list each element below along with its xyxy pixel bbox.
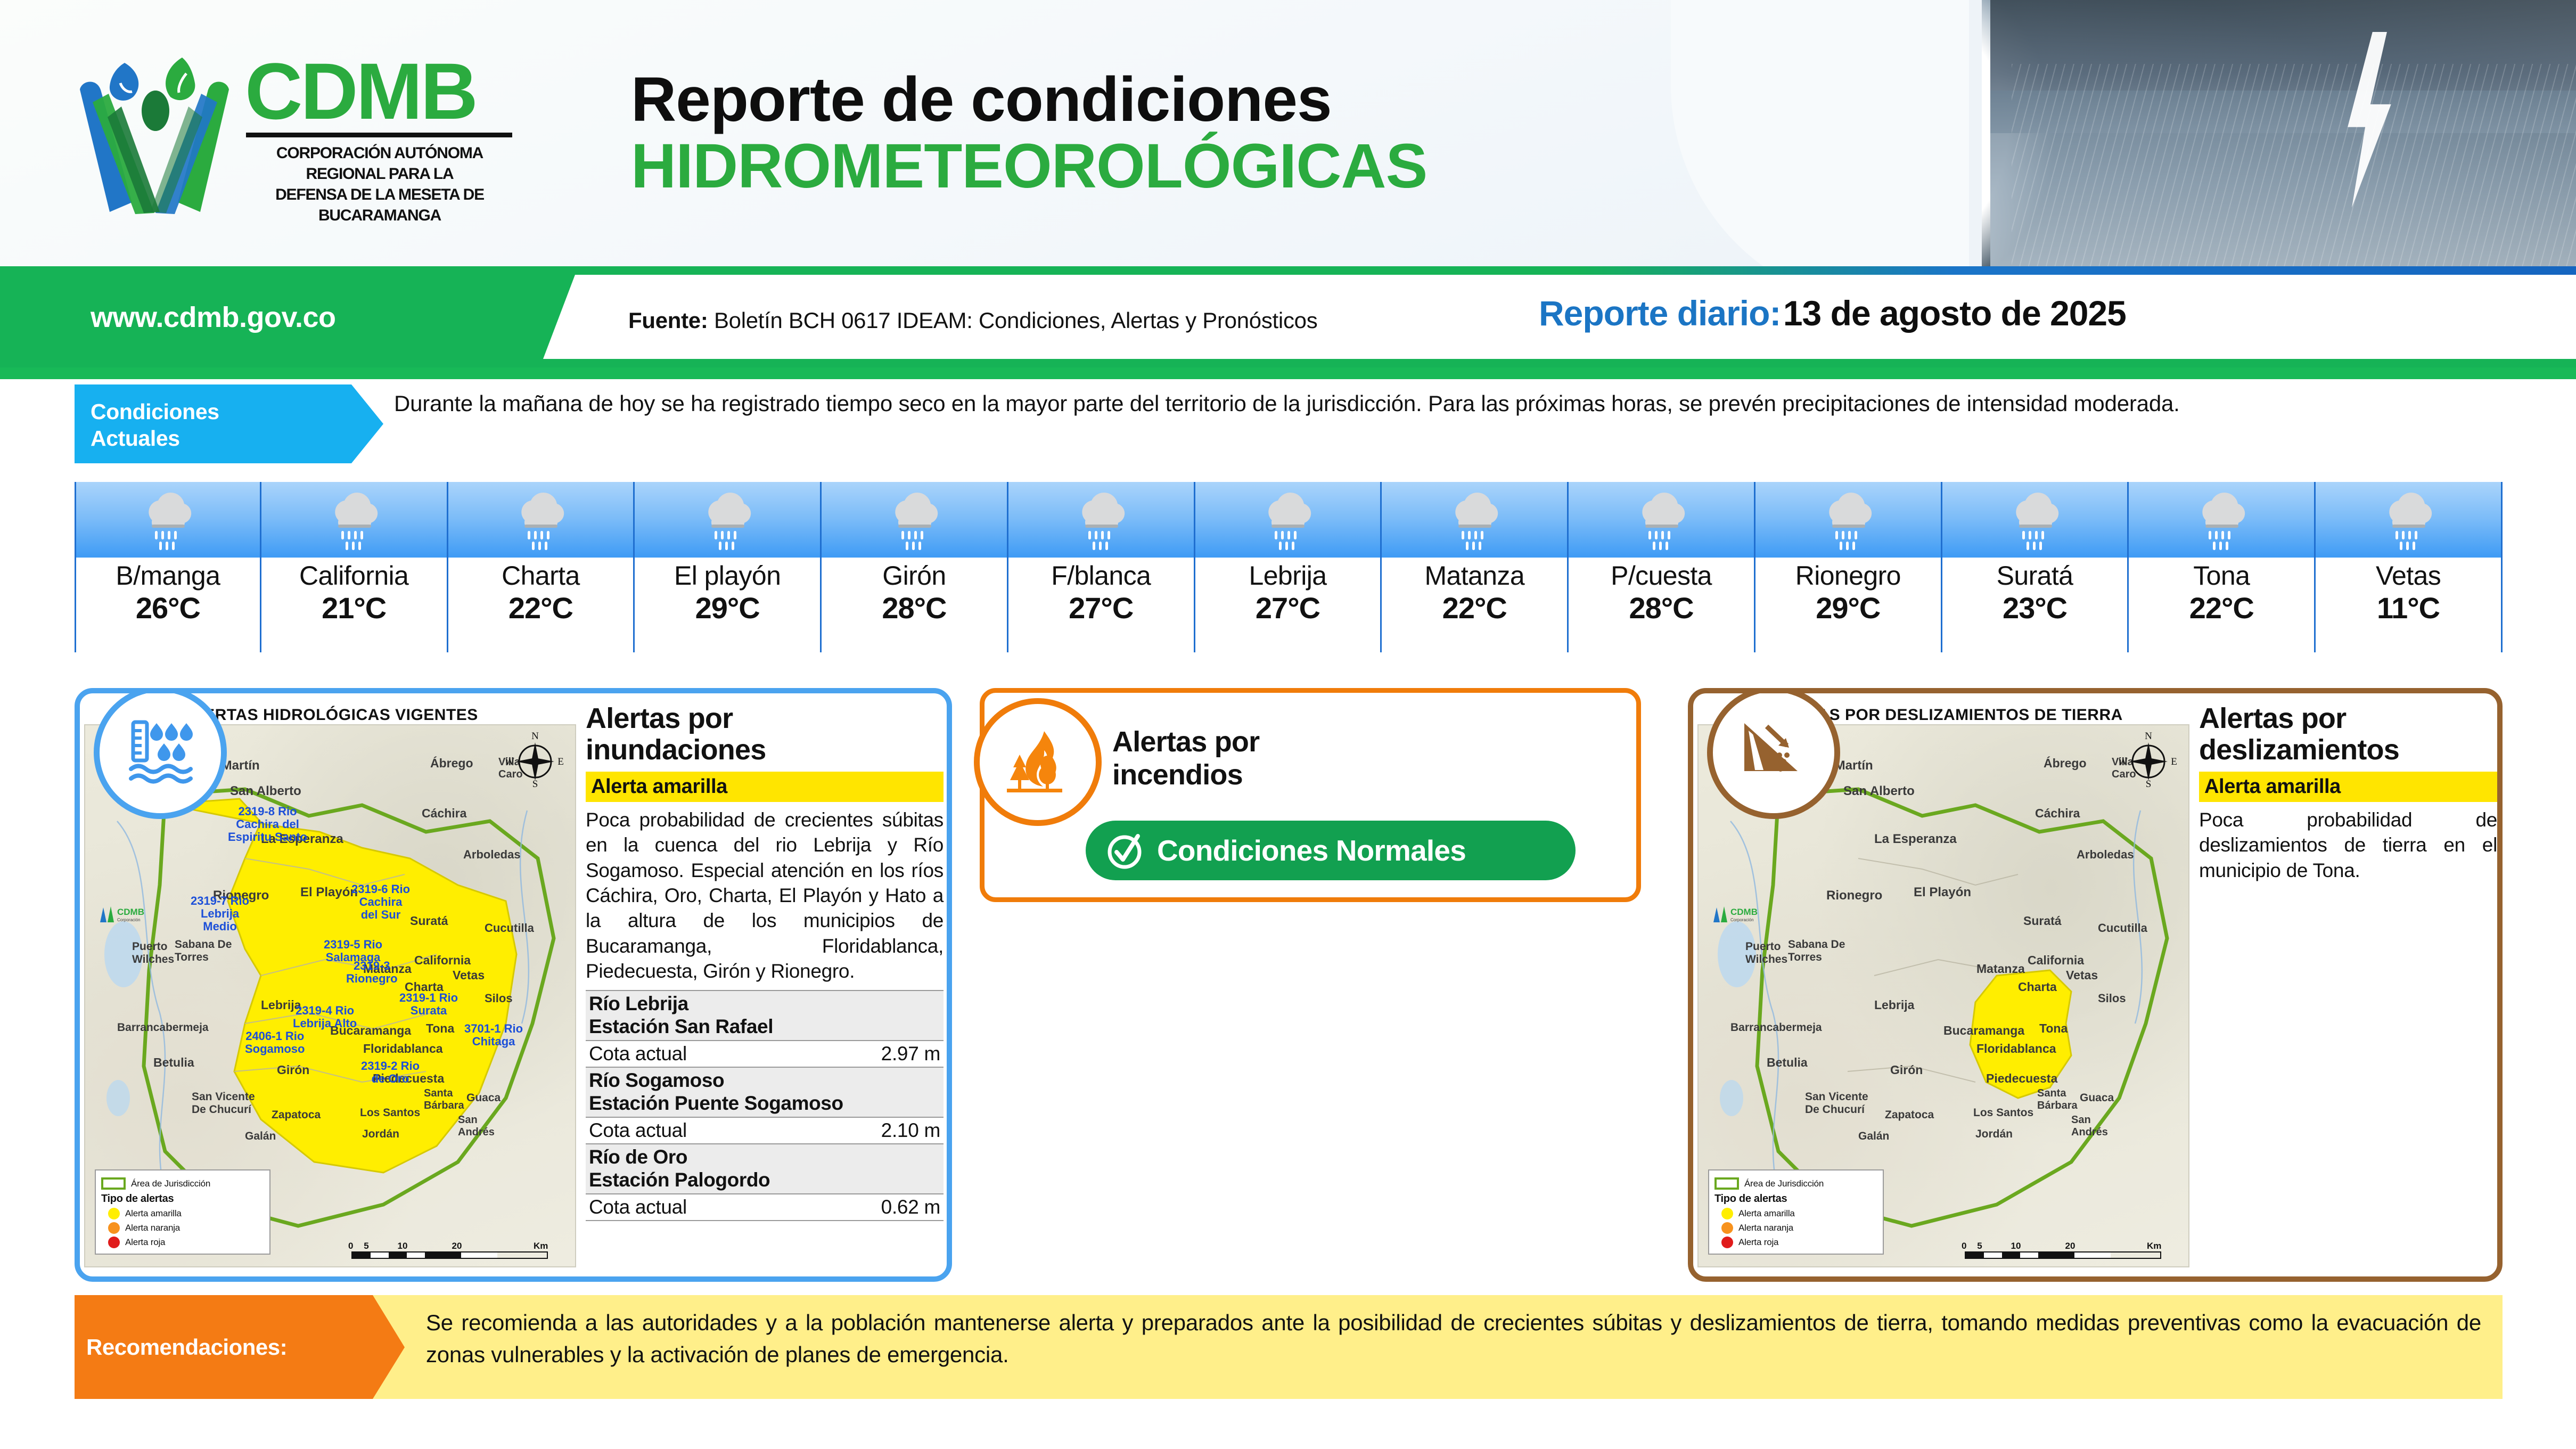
legend-item-label: Alerta naranja [125,1223,180,1233]
temperature-body: Girón28°C [822,558,1008,652]
temperature-body: El playón29°C [635,558,822,652]
legend-item-label: Alerta naranja [1738,1223,1793,1233]
scale-tick: 20 [421,1241,493,1251]
municipality-temperature: 28°C [882,591,946,626]
map-place-label: Cucutilla [485,921,534,935]
map-place-label: Jordán [362,1128,399,1141]
svg-text:Corporación: Corporación [1730,918,1754,922]
temperature-body: California21°C [261,558,448,652]
weather-icon-slot [448,482,635,558]
legend-types-header: Tipo de alertas [101,1193,264,1205]
landslide-alert-panel[interactable]: ALERTAS POR DESLIZAMIENTOS DE TIERRA [1688,688,2503,1282]
river-name: Río Lebrija [589,993,940,1016]
map-place-label: Suratá [410,914,448,928]
report-date-group: Reporte diario: 13 de agosto de 2025 [1539,293,2126,333]
map-place-label: Ábrego [430,756,473,771]
landslide-heading-1: Alertas por [2199,703,2497,734]
municipality-name: Vetas [2376,561,2441,591]
svg-text:E: E [557,756,564,767]
temperature-cell: Matanza22°C [1382,482,1569,652]
fire-alert-panel[interactable]: Alertas por incendios Condiciones Normal… [980,688,1641,902]
map-place-label: Floridablanca [363,1042,443,1056]
weather-icon-slot [1755,482,1942,558]
municipality-name: Matanza [1424,561,1524,591]
recommendations-text: Se recomienda a las autoridades y a la p… [426,1307,2481,1370]
flood-heading-2: inundaciones [586,734,944,766]
title-line-2: HIDROMETEOROLÓGICAS [631,133,1427,200]
fire-heading-1: Alertas por [1112,726,1259,759]
municipality-name: Charta [502,561,579,591]
scale-tick: 5 [348,1241,384,1251]
map-place-label: Silos [485,992,513,1005]
temperature-cell: Lebrija27°C [1195,482,1382,652]
rain-cloud-icon [508,490,572,553]
logo-subtitle-2: DEFENSA DE LA MESETA DE BUCARAMANGA [245,184,514,226]
legend-item-label: Alerta roja [125,1237,165,1248]
map-place-label: Betulia [1767,1055,1808,1070]
weather-icon-slot [75,482,261,558]
landslide-icon [1734,713,1814,792]
weather-icon-slot [1008,482,1195,558]
temperature-body: Rionegro29°C [1755,558,1942,652]
svg-text:W: W [2119,756,2128,767]
map-place-label: Girón [277,1063,309,1077]
river-name: Río Sogamoso [589,1069,940,1092]
landslide-heading-2: deslizamientos [2199,734,2497,766]
municipality-temperature: 23°C [2003,591,2067,626]
municipality-name: Girón [882,561,946,591]
map-place-label: Santa Bárbara [2037,1087,2078,1112]
municipality-temperature: 28°C [1629,591,1693,626]
recommendations-tag: Recomendaciones: [75,1295,405,1399]
map-place-label: California [2028,953,2084,968]
weather-icon-slot [635,482,822,558]
flood-heading-1: Alertas por [586,703,944,734]
scale-unit: Km [2147,1241,2161,1251]
rain-cloud-icon [322,490,386,553]
tag-line-2: Actuales [91,425,383,452]
legend-color-dot [1721,1237,1733,1248]
rain-cloud-icon [882,490,946,553]
municipality-name: Rionegro [1795,561,1901,591]
temperature-body: Matanza22°C [1382,558,1569,652]
municipality-temperature: 21°C [322,591,386,626]
legend-color-dot [1721,1208,1733,1219]
flood-alert-text: Poca probabilidad de crecientes súbitas … [586,807,944,984]
legend-color-dot [108,1208,120,1219]
map-place-label: Guaca [466,1092,501,1104]
recommendations-section: Recomendaciones: Se recomienda a las aut… [75,1295,2503,1399]
rain-streaks [2012,64,2576,266]
municipality-temperature: 22°C [2189,591,2254,626]
map-place-label: Cucutilla [2098,921,2147,935]
temperature-cell: El playón29°C [635,482,822,652]
weather-icon-slot [2316,482,2503,558]
map-place-label: Tona [426,1021,454,1036]
station-name: Estación Puente Sogamoso [589,1092,940,1115]
map-place-label: San Alberto [1843,784,1915,799]
rain-cloud-icon [1256,490,1319,553]
scale-tick: 20 [2034,1241,2106,1251]
map-place-label: Santa Bárbara [424,1087,464,1112]
temperature-body: P/cuesta28°C [1569,558,1755,652]
map-place-label: Zapatoca [272,1109,321,1121]
legend-items: Alerta amarillaAlerta naranjaAlerta roja [101,1208,264,1248]
temperature-cell: B/manga26°C [75,482,261,652]
legend-item-label: Alerta amarilla [1738,1208,1795,1219]
page-title: Reporte de condiciones HIDROMETEOROLÓGIC… [631,67,1427,200]
map-place-label: Floridablanca [1976,1042,2056,1056]
map-basin-label: 3701-1 Rio Chitaga [464,1022,523,1048]
map-place-label: Vetas [2066,968,2098,983]
map-place-label: Barrancabermeja [117,1021,209,1034]
jurisdiction-label: Área de Jurisdicción [131,1178,210,1189]
map-place-label: Rionegro [1826,888,1882,903]
legend-jurisdiction-row: Área de Jurisdicción [1714,1177,1877,1190]
municipality-name: El playón [674,561,781,591]
jurisdiction-swatch [1714,1177,1739,1190]
landslide-text-column: Alertas por deslizamientos Alerta amaril… [2199,703,2497,1275]
temperature-body: B/manga26°C [75,558,261,652]
map-cdmb-logo: CDMB Corporación [1709,901,1773,928]
legend-item: Alerta roja [1714,1237,1877,1248]
map-place-label: Zapatoca [1885,1109,1934,1121]
river-name: Río de Oro [589,1146,940,1169]
map-place-label: Sabana De Torres [175,938,232,964]
map-place-label: San Andrés [458,1114,495,1139]
weather-icon-slot [1569,482,1755,558]
map-place-label: Ábrego [2044,756,2087,771]
temperature-cell: P/cuesta28°C [1569,482,1755,652]
map-place-label: Vetas [453,968,485,983]
map-scale-bar: 051020Km [351,1241,548,1259]
map-basin-label: 2319-1 Rio Surata [399,992,458,1017]
green-divider [0,367,2576,379]
temperature-strip: B/manga26°CCalifornia21°CCharta22°CEl pl… [75,482,2503,652]
map-place-label: Guaca [2080,1092,2114,1104]
map-place-label: San Vicente De Chucurí [192,1091,255,1116]
map-basin-label: 2319-3 Rionegro [346,960,398,985]
map-place-label: Charta [2018,980,2057,994]
flood-alert-panel[interactable]: ALERTAS HIDROLÓGICAS VIGENTES [75,688,952,1282]
fire-status-badge[interactable]: Condiciones Normales [1086,821,1576,880]
map-place-label: San Vicente De Chucurí [1805,1091,1868,1116]
scale-tick: 10 [384,1241,421,1251]
map-place-label: Suratá [2023,914,2062,928]
temperature-cell: F/blanca27°C [1008,482,1195,652]
rain-cloud-icon [695,490,759,553]
map-place-label: Barrancabermeja [1730,1021,1822,1034]
legend-item: Alerta naranja [1714,1222,1877,1234]
cdmb-logomark-icon [69,43,245,218]
page-header: CDMB CORPORACIÓN AUTÓNOMA REGIONAL PARA … [0,0,2576,266]
municipality-name: F/blanca [1051,561,1151,591]
landslide-badge [1707,688,1840,819]
map-place-label: La Esperanza [1874,832,1957,847]
river-station-name: Río LebrijaEstación San Rafael [586,990,944,1041]
map-place-label: California [414,953,471,968]
municipality-name: P/cuesta [1611,561,1712,591]
river-station-header: Río SogamosoEstación Puente Sogamoso [586,1067,944,1117]
map-place-label: Puerto Wilches [1745,940,1787,966]
legend-item: Alerta roja [101,1237,264,1248]
legend-item-label: Alerta amarilla [125,1208,182,1219]
temperature-body: F/blanca27°C [1008,558,1195,652]
rain-cloud-icon [2003,490,2067,553]
report-date: 13 de agosto de 2025 [1783,293,2126,333]
source-label: Fuente: [628,308,708,333]
temperature-body: Charta22°C [448,558,635,652]
legend-item: Alerta amarilla [101,1208,264,1219]
river-station-header: Río de OroEstación Palogordo [586,1144,944,1194]
map-place-label: Tona [2039,1021,2068,1036]
fire-heading-2: incendios [1112,759,1259,792]
map-basin-label: 2319-8 Rio Cachira del Espiritu Santo [228,805,307,844]
map-place-label: Piedecuesta [1986,1071,2057,1086]
compass-rose-icon: N E W S [506,728,564,787]
compass-rose-icon: N E W S [2119,728,2178,787]
metric-value: 2.10 m [805,1117,944,1144]
map-basin-label: 2319-4 Rio Lebrija Alto [293,1004,357,1030]
map-place-label: Bucaramanga [1943,1024,2024,1038]
temperature-cell: Vetas11°C [2316,482,2503,652]
scale-tick: 5 [1962,1241,1998,1251]
map-place-label: Cáchira [2035,806,2080,821]
legend-types-header: Tipo de alertas [1714,1193,1877,1205]
landslide-alert-level: Alerta amarilla [2199,772,2497,802]
current-conditions-tag: Condiciones Actuales [75,384,383,463]
weather-icon-slot [2129,482,2316,558]
svg-text:Corporación: Corporación [117,918,141,922]
forest-fire-icon [998,723,1077,801]
municipality-name: California [299,561,408,591]
legend-color-dot [108,1237,120,1248]
cdmb-logotype: CDMB CORPORACIÓN AUTÓNOMA REGIONAL PARA … [245,53,548,226]
map-place-label: San Andrés [2071,1114,2108,1139]
temperature-cell: Suratá23°C [1942,482,2129,652]
municipality-temperature: 27°C [1069,591,1133,626]
svg-text:S: S [2146,779,2152,787]
weather-icon-slot [1195,482,1382,558]
map-place-label: Galán [245,1130,276,1143]
rain-cloud-icon [1069,490,1133,553]
temperature-cell: California21°C [261,482,448,652]
svg-text:CDMB: CDMB [1730,907,1758,917]
map-legend: Área de Jurisdicción Tipo de alertas Ale… [95,1169,270,1255]
weather-icon-slot [822,482,1008,558]
municipality-name: Tona [2193,561,2250,591]
temperature-body: Suratá23°C [1942,558,2129,652]
municipality-temperature: 27°C [1256,591,1320,626]
municipality-temperature: 29°C [695,591,760,626]
report-label: Reporte diario: [1539,293,1781,333]
temperature-cell: Rionegro29°C [1755,482,1942,652]
map-place-label: Los Santos [1973,1107,2033,1119]
map-place-label: Betulia [153,1055,194,1070]
title-line-1: Reporte de condiciones [631,67,1427,133]
municipality-name: Lebrija [1249,561,1327,591]
logo-name: CDMB [245,53,548,129]
svg-text:E: E [2171,756,2177,767]
map-scale-bar: 051020Km [1965,1241,2161,1259]
legend-color-dot [1721,1222,1733,1234]
temperature-body: Tona22°C [2129,558,2316,652]
municipality-temperature: 11°C [2377,591,2440,626]
map-place-label: Sabana De Torres [1788,938,1845,964]
temperature-cell: Tona22°C [2129,482,2316,652]
scale-unit: Km [534,1241,548,1251]
weather-icon-slot [1942,482,2129,558]
weather-icon-slot [1382,482,1569,558]
header-curve [1671,0,1969,266]
map-basin-label: 2406-1 Rio Sogamoso [245,1030,305,1055]
alert-panels: ALERTAS HIDROLÓGICAS VIGENTES [75,682,2503,1278]
map-place-label: Los Santos [360,1107,420,1119]
svg-text:CDMB: CDMB [117,907,144,917]
map-place-label: Matanza [1976,962,2025,976]
water-level-gauge-icon [120,713,200,792]
municipality-temperature: 26°C [136,591,200,626]
website-url[interactable]: www.cdmb.gov.co [91,301,336,334]
map-basin-label: 2319-2 Rio de Oro [361,1060,420,1085]
landslide-alert-text: Poca probabilidad de deslizamientos de t… [2199,807,2497,883]
rain-cloud-icon [2376,490,2440,553]
map-legend: Área de Jurisdicción Tipo de alertas Ale… [1708,1169,1884,1255]
municipality-temperature: 22°C [1442,591,1507,626]
map-cdmb-logo: CDMB Corporación [96,901,160,928]
river-station-value-row: Cota actual0.62 m [586,1194,944,1221]
municipality-name: B/manga [116,561,220,591]
report-page: CDMB CORPORACIÓN AUTÓNOMA REGIONAL PARA … [0,0,2576,1449]
svg-text:S: S [532,779,538,787]
svg-text:N: N [2145,731,2152,742]
current-conditions-section: Condiciones Actuales Durante la mañana d… [75,384,2503,463]
current-conditions-text: Durante la mañana de hoy se ha registrad… [394,388,2497,420]
metric-label: Cota actual [586,1041,805,1067]
flood-badge [94,688,227,819]
svg-text:W: W [506,756,514,767]
temperature-cell: Charta22°C [448,482,635,652]
flood-text-column: Alertas por inundaciones Alerta amarilla… [586,703,944,1275]
map-logo-icon: CDMB Corporación [96,901,160,926]
municipality-name: Suratá [1997,561,2073,591]
river-station-name: Río de OroEstación Palogordo [586,1144,944,1194]
svg-text:N: N [531,731,539,742]
legend-item: Alerta amarilla [1714,1208,1877,1219]
flood-alert-level: Alerta amarilla [586,772,944,802]
river-station-value-row: Cota actual2.97 m [586,1041,944,1067]
rain-cloud-icon [136,490,200,553]
source-text: Fuente: Boletín BCH 0617 IDEAM: Condicio… [628,308,1317,333]
lightning-bolt-icon [2336,32,2400,208]
metric-value: 0.62 m [805,1194,944,1221]
municipality-temperature: 29°C [1816,591,1880,626]
map-place-label: Girón [1890,1063,1923,1077]
station-name: Estación Palogordo [589,1169,940,1192]
legend-item: Alerta naranja [101,1222,264,1234]
cdmb-logo: CDMB CORPORACIÓN AUTÓNOMA REGIONAL PARA … [69,43,548,218]
rain-cloud-icon [2189,490,2253,553]
map-place-label: Cáchira [422,806,466,821]
check-circle-icon [1104,830,1145,871]
metric-value: 2.97 m [805,1041,944,1067]
map-place-label: El Playón [300,885,358,900]
logo-subtitle-1: CORPORACIÓN AUTÓNOMA REGIONAL PARA LA [245,143,514,184]
river-station-header: Río LebrijaEstación San Rafael [586,990,944,1041]
map-place-label: El Playón [1914,885,1971,900]
legend-items: Alerta amarillaAlerta naranjaAlerta roja [1714,1208,1877,1248]
temperature-body: Lebrija27°C [1195,558,1382,652]
legend-color-dot [108,1222,120,1234]
weather-icon-slot [261,482,448,558]
fire-heading: Alertas por incendios [1112,726,1259,791]
station-name: Estación San Rafael [589,1016,940,1038]
rain-cloud-icon [1816,490,1880,553]
river-station-value-row: Cota actual2.10 m [586,1117,944,1144]
legend-item-label: Alerta roja [1738,1237,1778,1248]
metric-label: Cota actual [586,1194,805,1221]
municipality-temperature: 22°C [508,591,573,626]
river-stations-table: Río LebrijaEstación San RafaelCota actua… [586,990,944,1221]
river-station-name: Río SogamosoEstación Puente Sogamoso [586,1067,944,1117]
fire-status-label: Condiciones Normales [1157,833,1466,867]
legend-jurisdiction-row: Área de Jurisdicción [101,1177,264,1190]
map-place-label: Jordán [1975,1128,2013,1141]
tag-line-1: Condiciones [91,398,383,425]
jurisdiction-label: Área de Jurisdicción [1744,1178,1824,1189]
map-place-label: Galán [1858,1130,1889,1143]
temperature-body: Vetas11°C [2316,558,2503,652]
rain-cloud-icon [1442,490,1506,553]
map-basin-label: 2319-6 Rio Cachira del Sur [351,883,410,922]
map-place-label: Arboledas [463,848,521,862]
map-place-label: Puerto Wilches [132,940,174,966]
source-value: Boletín BCH 0617 IDEAM: Condiciones, Ale… [714,308,1317,333]
map-logo-icon: CDMB Corporación [1709,901,1773,926]
rain-cloud-icon [1629,490,1693,553]
map-place-label: Arboledas [2077,848,2134,862]
metric-label: Cota actual [586,1117,805,1144]
map-basin-label: 2319-7 Rio Lebrija Medio [191,895,249,934]
map-place-label: Silos [2098,992,2126,1005]
scale-tick: 10 [1998,1241,2034,1251]
temperature-cell: Girón28°C [822,482,1008,652]
map-place-label: Lebrija [1874,998,1914,1012]
fire-badge [974,698,1102,826]
map-place-label: San Alberto [230,784,301,799]
jurisdiction-swatch [101,1177,126,1190]
